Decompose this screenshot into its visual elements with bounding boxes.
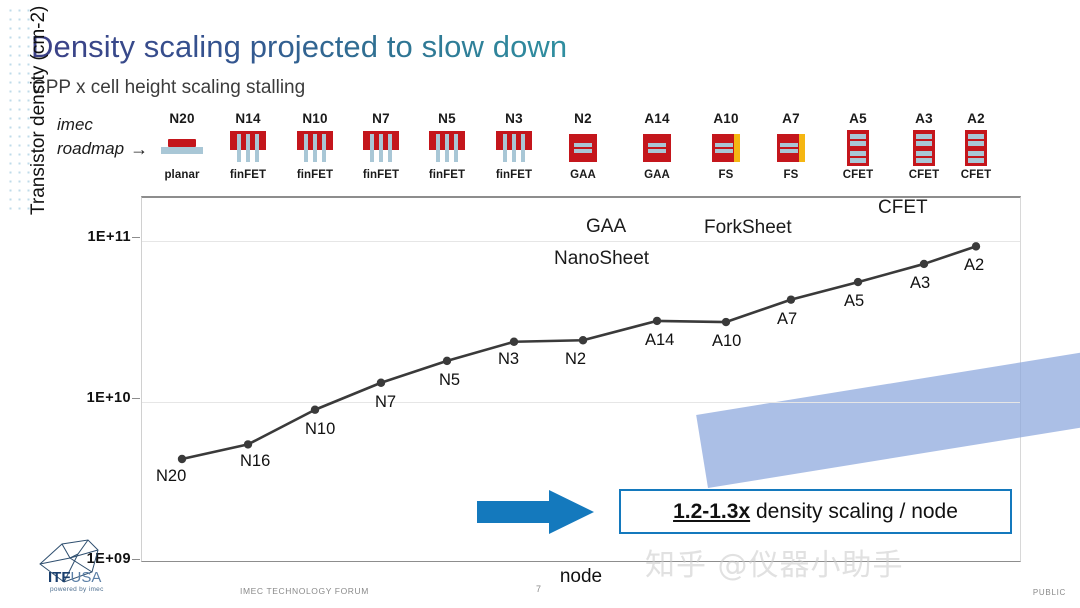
roadmap-node-type: finFET bbox=[284, 169, 346, 181]
footer-page-number: 7 bbox=[536, 584, 541, 594]
slide-root: Density scaling projected to slow down C… bbox=[0, 0, 1080, 608]
point-label-a14: A14 bbox=[645, 331, 674, 350]
region-label-forksheet: ForkSheet bbox=[704, 217, 792, 239]
planar-icon bbox=[161, 135, 203, 165]
region-label-nanosheet: NanoSheet bbox=[554, 248, 649, 270]
roadmap-node-name: A14 bbox=[626, 112, 688, 125]
point-label-n5: N5 bbox=[439, 371, 460, 390]
roadmap-node-name: N2 bbox=[552, 112, 614, 125]
roadmap-node-type: GAA bbox=[626, 169, 688, 181]
region-label-gaa: GAA bbox=[586, 216, 626, 238]
roadmap-node-icon bbox=[945, 128, 1007, 166]
roadmap-node-name: A5 bbox=[827, 112, 889, 125]
y-axis-tick: 1E+11 bbox=[0, 229, 131, 245]
watermark: 知乎 @仪器小助手 bbox=[645, 540, 904, 584]
roadmap-node-n7: N7finFET bbox=[350, 112, 412, 181]
callout-highlight: 1.2-1.3x bbox=[673, 500, 750, 523]
roadmap-node-name: N14 bbox=[217, 112, 279, 125]
footer-organization: IMEC TECHNOLOGY FORUM bbox=[240, 586, 369, 596]
roadmap-node-icon bbox=[695, 128, 757, 166]
roadmap-node-type: CFET bbox=[945, 169, 1007, 181]
roadmap-node-icon bbox=[483, 128, 545, 166]
y-gridline bbox=[142, 402, 1020, 403]
y-gridline bbox=[142, 241, 1020, 242]
roadmap-node-type: finFET bbox=[416, 169, 478, 181]
roadmap-node-a7: A7FS bbox=[760, 112, 822, 181]
roadmap-node-type: finFET bbox=[483, 169, 545, 181]
page-title: Density scaling projected to slow down bbox=[31, 29, 567, 65]
roadmap-node-n3: N3finFET bbox=[483, 112, 545, 181]
point-label-n10: N10 bbox=[305, 420, 335, 439]
roadmap-node-name: N10 bbox=[284, 112, 346, 125]
point-label-n20: N20 bbox=[156, 467, 186, 486]
roadmap-node-icon bbox=[552, 128, 614, 166]
point-label-n7: N7 bbox=[375, 393, 396, 412]
roadmap-node-a14: A14GAA bbox=[626, 112, 688, 181]
roadmap-node-icon bbox=[217, 128, 279, 166]
roadmap-node-type: planar bbox=[151, 169, 213, 181]
roadmap-node-n14: N14finFET bbox=[217, 112, 279, 181]
roadmap-node-n5: N5finFET bbox=[416, 112, 478, 181]
roadmap-node-type: CFET bbox=[827, 169, 889, 181]
roadmap-node-a2: A2CFET bbox=[945, 112, 1007, 181]
finfet-icon bbox=[429, 131, 465, 165]
roadmap-node-n10: N10finFET bbox=[284, 112, 346, 181]
roadmap-node-type: finFET bbox=[217, 169, 279, 181]
roadmap-node-n2: N2GAA bbox=[552, 112, 614, 181]
roadmap-node-icon bbox=[760, 128, 822, 166]
roadmap-node-type: FS bbox=[760, 169, 822, 181]
blue-arrow-icon bbox=[477, 489, 595, 535]
roadmap-node-type: GAA bbox=[552, 169, 614, 181]
finfet-icon bbox=[363, 131, 399, 165]
roadmap-node-name: N5 bbox=[416, 112, 478, 125]
roadmap-node-icon bbox=[626, 128, 688, 166]
region-label-cfet: CFET bbox=[878, 197, 928, 219]
roadmap-node-name: A7 bbox=[760, 112, 822, 125]
roadmap-node-icon bbox=[416, 128, 478, 166]
point-label-n3: N3 bbox=[498, 350, 519, 369]
roadmap-node-name: A2 bbox=[945, 112, 1007, 125]
itf-logo-usa: USA bbox=[71, 569, 102, 586]
gaa-icon bbox=[643, 134, 671, 162]
point-label-a10: A10 bbox=[712, 332, 741, 351]
right-arrow-icon: → bbox=[130, 137, 148, 161]
roadmap-node-icon bbox=[151, 128, 213, 166]
cfet-icon bbox=[913, 130, 935, 166]
footer-classification: PUBLIC bbox=[1033, 588, 1066, 597]
roadmap-node-name: N3 bbox=[483, 112, 545, 125]
finfet-icon bbox=[230, 131, 266, 165]
itf-logo-text: ITFUSA bbox=[48, 569, 101, 586]
callout-text: 1.2-1.3x density scaling / node bbox=[673, 500, 958, 524]
callout-box: 1.2-1.3x density scaling / node bbox=[619, 489, 1012, 534]
callout-rest: density scaling / node bbox=[750, 500, 958, 523]
roadmap-node-type: FS bbox=[695, 169, 757, 181]
itf-logo-main: ITF bbox=[48, 569, 71, 586]
forksheet-icon bbox=[777, 134, 805, 162]
cfet-icon bbox=[965, 130, 987, 166]
roadmap-label-line2: roadmap bbox=[57, 137, 124, 161]
finfet-icon bbox=[297, 131, 333, 165]
cfet-icon bbox=[847, 130, 869, 166]
point-label-n16: N16 bbox=[240, 452, 270, 471]
y-axis-label: Transistor density (cm-2) bbox=[28, 0, 50, 215]
itf-logo-sub: powered by imec bbox=[50, 586, 104, 593]
roadmap-node-name: N20 bbox=[151, 112, 213, 125]
roadmap-node-name: A10 bbox=[695, 112, 757, 125]
point-label-n2: N2 bbox=[565, 350, 586, 369]
scaling-slowdown-band bbox=[696, 348, 1080, 488]
page-subtitle: CPP x cell height scaling stalling bbox=[32, 77, 305, 99]
roadmap-node-icon bbox=[827, 128, 889, 166]
y-axis-tick: 1E+10 bbox=[0, 390, 131, 406]
point-label-a7: A7 bbox=[777, 310, 797, 329]
point-label-a2: A2 bbox=[964, 256, 984, 275]
roadmap-node-name: N7 bbox=[350, 112, 412, 125]
roadmap-node-n20: N20planar bbox=[151, 112, 213, 181]
roadmap-node-icon bbox=[284, 128, 346, 166]
roadmap-node-a5: A5CFET bbox=[827, 112, 889, 181]
roadmap-node-type: finFET bbox=[350, 169, 412, 181]
gaa-icon bbox=[569, 134, 597, 162]
point-label-a3: A3 bbox=[910, 274, 930, 293]
forksheet-icon bbox=[712, 134, 740, 162]
point-label-a5: A5 bbox=[844, 292, 864, 311]
roadmap-node-strip: N20planarN14finFETN10finFETN7finFETN5fin… bbox=[150, 112, 1050, 190]
roadmap-node-a10: A10FS bbox=[695, 112, 757, 181]
finfet-icon bbox=[496, 131, 532, 165]
roadmap-node-icon bbox=[350, 128, 412, 166]
